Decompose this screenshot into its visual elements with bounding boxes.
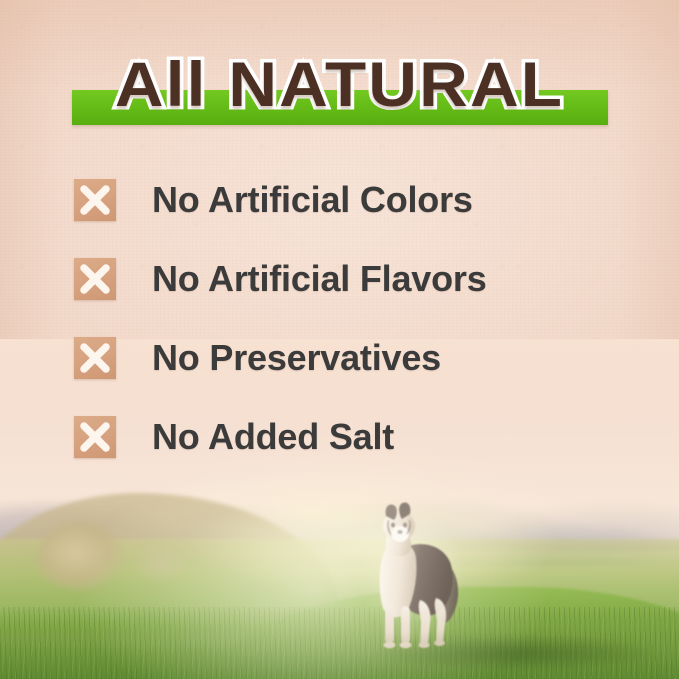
list-item-label: No Artificial Colors <box>152 179 473 221</box>
x-mark-icon <box>74 179 116 221</box>
x-mark-icon <box>74 416 116 458</box>
list-item: No Added Salt <box>74 415 614 459</box>
x-mark-icon <box>74 337 116 379</box>
product-infographic-poster: All NATURAL No Artificial Colors <box>0 0 679 679</box>
list-item: No Artificial Colors <box>74 178 614 222</box>
dog-photo-subject <box>358 500 466 652</box>
x-mark-icon <box>74 258 116 300</box>
list-item: No Preservatives <box>74 336 614 380</box>
list-item: No Artificial Flavors <box>74 257 614 301</box>
headline-banner: All NATURAL <box>0 47 679 137</box>
list-item-label: No Added Salt <box>152 416 394 458</box>
benefits-list: No Artificial Colors No Artificial Flavo… <box>74 178 614 494</box>
list-item-label: No Preservatives <box>152 337 441 379</box>
list-item-label: No Artificial Flavors <box>152 258 487 300</box>
page-title: All NATURAL <box>0 47 679 123</box>
